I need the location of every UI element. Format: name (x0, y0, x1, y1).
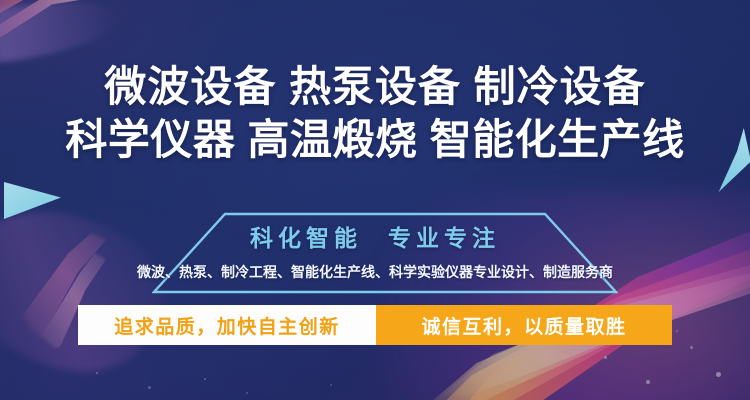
headline-line-1: 微波设备 热泵设备 制冷设备 (0, 60, 750, 113)
slogan-right: 专业专注 (388, 225, 500, 251)
badge-integrity[interactable]: 诚信互利，以质量取胜 (376, 305, 672, 345)
badge-bar: 追求品质，加快自主创新 诚信互利，以质量取胜 (78, 305, 672, 345)
promo-banner: 微波设备 热泵设备 制冷设备 科学仪器 高温煅烧 智能化生产线 科化智能专业专注… (0, 0, 750, 400)
sub-description: 微波、热泵、制冷工程、智能化生产线、科学实验仪器专业设计、制造服务商 (0, 262, 750, 282)
slogan-row: 科化智能专业专注 (0, 222, 750, 254)
headline-line-2: 科学仪器 高温煅烧 智能化生产线 (0, 113, 750, 166)
page-title: 微波设备 热泵设备 制冷设备 科学仪器 高温煅烧 智能化生产线 (0, 60, 750, 166)
badge-quality[interactable]: 追求品质，加快自主创新 (78, 305, 376, 345)
slogan-left: 科化智能 (250, 225, 362, 251)
